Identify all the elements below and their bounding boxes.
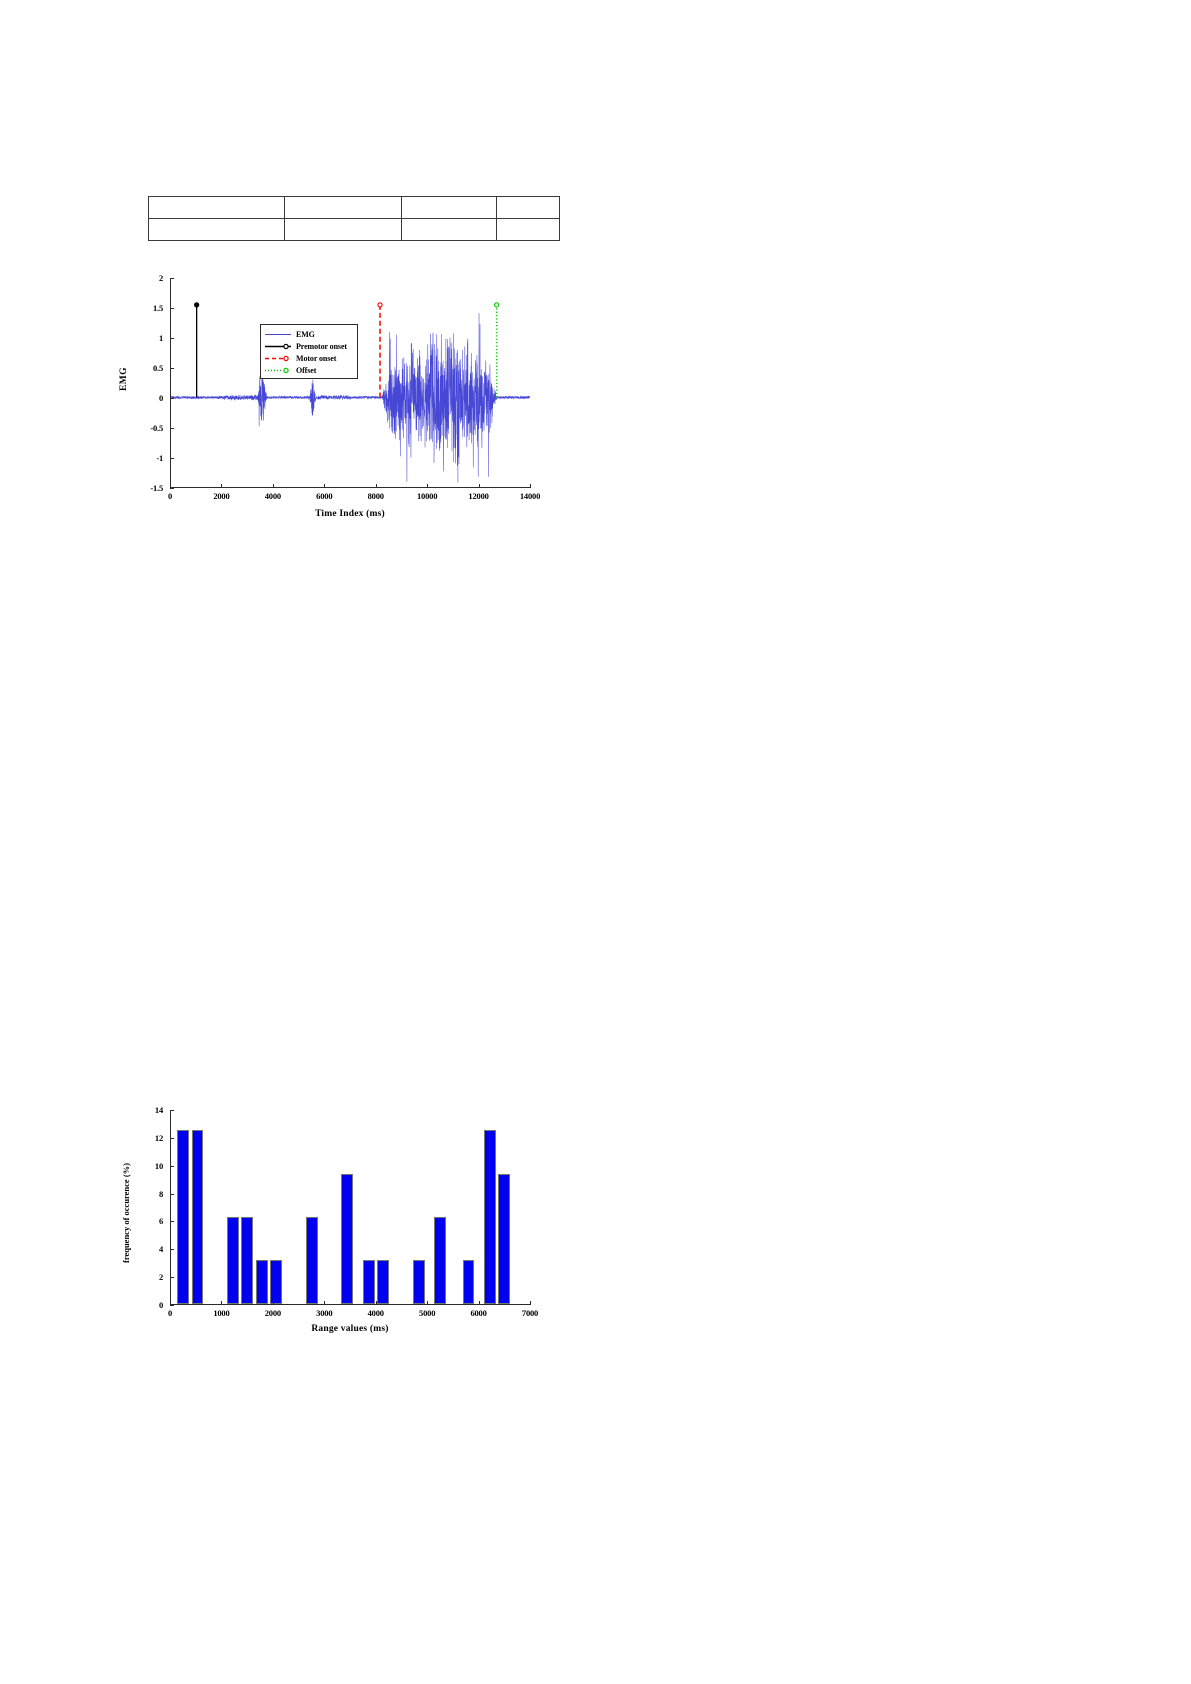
hist-x-tick-label: 7000	[522, 1308, 538, 1318]
histogram-figure: frequency of occurence (%) 02468101214 0…	[130, 1100, 550, 1350]
hist-y-tick-mark	[170, 1305, 174, 1306]
table-cell	[497, 219, 560, 241]
hist-bar-group	[171, 1110, 530, 1304]
emg-y-axis-label: EMG	[119, 367, 129, 391]
legend-line-icon	[264, 329, 292, 340]
hist-bar	[227, 1217, 239, 1304]
emg-x-tick-label: 6000	[316, 491, 332, 501]
legend-label: Motor onset	[296, 354, 336, 363]
hist-y-tick-mark	[170, 1138, 174, 1139]
hist-x-tick-mark	[170, 1301, 171, 1305]
legend-dashed-marker-icon	[264, 353, 292, 364]
legend-label: EMG	[296, 330, 315, 339]
hist-x-tick-label: 2000	[265, 1308, 281, 1318]
table-cell	[285, 197, 402, 219]
table-cell	[149, 197, 285, 219]
emg-y-tick-label: 0	[130, 393, 163, 403]
hist-y-tick-mark	[170, 1249, 174, 1250]
legend-label: Offset	[296, 366, 316, 375]
hist-x-tick-label: 6000	[470, 1308, 486, 1318]
table-cell	[402, 197, 497, 219]
hist-bar	[341, 1174, 353, 1304]
emg-y-tick-mark	[170, 368, 174, 369]
emg-y-tick-mark	[170, 338, 174, 339]
hist-y-tick-label: 10	[130, 1161, 163, 1171]
hist-y-tick-mark	[170, 1277, 174, 1278]
hist-x-tick-mark	[221, 1301, 222, 1305]
emg-y-tick-label: 1	[130, 333, 163, 343]
table-cell	[149, 219, 285, 241]
emg-x-tick-mark	[530, 484, 531, 488]
table-cell	[402, 219, 497, 241]
hist-x-tick-mark	[273, 1301, 274, 1305]
hist-y-tick-label: 4	[130, 1244, 163, 1254]
hist-x-tick-mark	[530, 1301, 531, 1305]
emg-y-tick-label: -1	[130, 453, 163, 463]
emg-legend: EMG Premotor onset Motor	[260, 324, 358, 379]
emg-x-tick-label: 4000	[265, 491, 281, 501]
emg-y-tick-mark	[170, 458, 174, 459]
emg-x-axis-label: Time Index (ms)	[170, 509, 530, 519]
emg-x-tick-mark	[273, 484, 274, 488]
table-row	[149, 219, 560, 241]
emg-x-tick-label: 12000	[468, 491, 488, 501]
hist-y-tick-label: 8	[130, 1189, 163, 1199]
blank-data-table	[148, 196, 560, 241]
hist-y-tick-label: 14	[130, 1105, 163, 1115]
premotor-onset-marker	[195, 303, 199, 307]
hist-x-tick-label: 1000	[213, 1308, 229, 1318]
hist-y-tick-mark	[170, 1194, 174, 1195]
hist-x-tick-mark	[427, 1301, 428, 1305]
legend-item-emg: EMG	[264, 328, 353, 340]
table-row	[149, 197, 560, 219]
hist-bar	[256, 1260, 268, 1304]
legend-item-premotor-onset: Premotor onset	[264, 340, 353, 352]
legend-item-offset: Offset	[264, 364, 353, 376]
legend-line-marker-icon	[264, 341, 292, 352]
emg-y-tick-mark	[170, 278, 174, 279]
table-cell	[285, 219, 402, 241]
hist-y-tick-mark	[170, 1166, 174, 1167]
emg-y-tick-mark	[170, 488, 174, 489]
emg-y-tick-label: -1.5	[130, 483, 163, 493]
hist-bar	[192, 1130, 204, 1304]
hist-bar	[363, 1260, 375, 1304]
emg-y-tick-mark	[170, 308, 174, 309]
hist-y-tick-label: 6	[130, 1216, 163, 1226]
hist-bar	[463, 1260, 475, 1304]
hist-x-tick-mark	[479, 1301, 480, 1305]
hist-bar	[377, 1260, 389, 1304]
emg-x-tick-label: 2000	[213, 491, 229, 501]
emg-x-tick-label: 14000	[520, 491, 540, 501]
emg-y-tick-mark	[170, 398, 174, 399]
hist-y-tick-label: 0	[130, 1300, 163, 1310]
emg-trace-svg	[171, 278, 530, 487]
hist-x-axis-label: Range values (ms)	[170, 1324, 530, 1334]
hist-bar	[241, 1217, 253, 1304]
hist-bar	[413, 1260, 425, 1304]
emg-x-tick-label: 10000	[417, 491, 437, 501]
document-page: EMG -1.5-1-0.500.511.52 0200040006000800…	[0, 0, 1191, 1684]
hist-x-tick-label: 4000	[368, 1308, 384, 1318]
hist-bar	[498, 1174, 510, 1304]
hist-x-tick-mark	[376, 1301, 377, 1305]
emg-x-tick-mark	[376, 484, 377, 488]
legend-item-motor-onset: Motor onset	[264, 352, 353, 364]
emg-y-tick-label: 1.5	[130, 303, 163, 313]
emg-y-tick-mark	[170, 428, 174, 429]
hist-plot-area	[170, 1110, 530, 1305]
hist-x-tick-label: 5000	[419, 1308, 435, 1318]
emg-x-tick-mark	[170, 484, 171, 488]
hist-bar	[484, 1130, 496, 1304]
emg-x-tick-mark	[427, 484, 428, 488]
emg-x-tick-mark	[221, 484, 222, 488]
motor-onset-marker	[378, 303, 382, 307]
emg-y-tick-label: 2	[130, 273, 163, 283]
emg-plot-area	[170, 278, 530, 488]
emg-x-tick-mark	[324, 484, 325, 488]
hist-bar	[306, 1217, 318, 1304]
hist-x-tick-label: 3000	[316, 1308, 332, 1318]
hist-bar	[434, 1217, 446, 1304]
hist-x-tick-label: 0	[168, 1308, 172, 1318]
emg-x-tick-mark	[479, 484, 480, 488]
hist-bar	[177, 1130, 189, 1304]
emg-x-tick-label: 0	[168, 491, 172, 501]
legend-label: Premotor onset	[296, 342, 347, 351]
emg-x-tick-label: 8000	[368, 491, 384, 501]
table-cell	[497, 197, 560, 219]
hist-y-tick-mark	[170, 1110, 174, 1111]
emg-figure: EMG -1.5-1-0.500.511.52 0200040006000800…	[130, 266, 550, 526]
hist-y-tick-label: 12	[130, 1133, 163, 1143]
emg-y-tick-label: 0.5	[130, 363, 163, 373]
legend-dotted-marker-icon	[264, 365, 292, 376]
emg-y-tick-label: -0.5	[130, 423, 163, 433]
hist-y-tick-label: 2	[130, 1272, 163, 1282]
hist-x-tick-mark	[324, 1301, 325, 1305]
hist-y-tick-mark	[170, 1221, 174, 1222]
hist-bar	[270, 1260, 282, 1304]
offset-marker	[495, 303, 499, 307]
